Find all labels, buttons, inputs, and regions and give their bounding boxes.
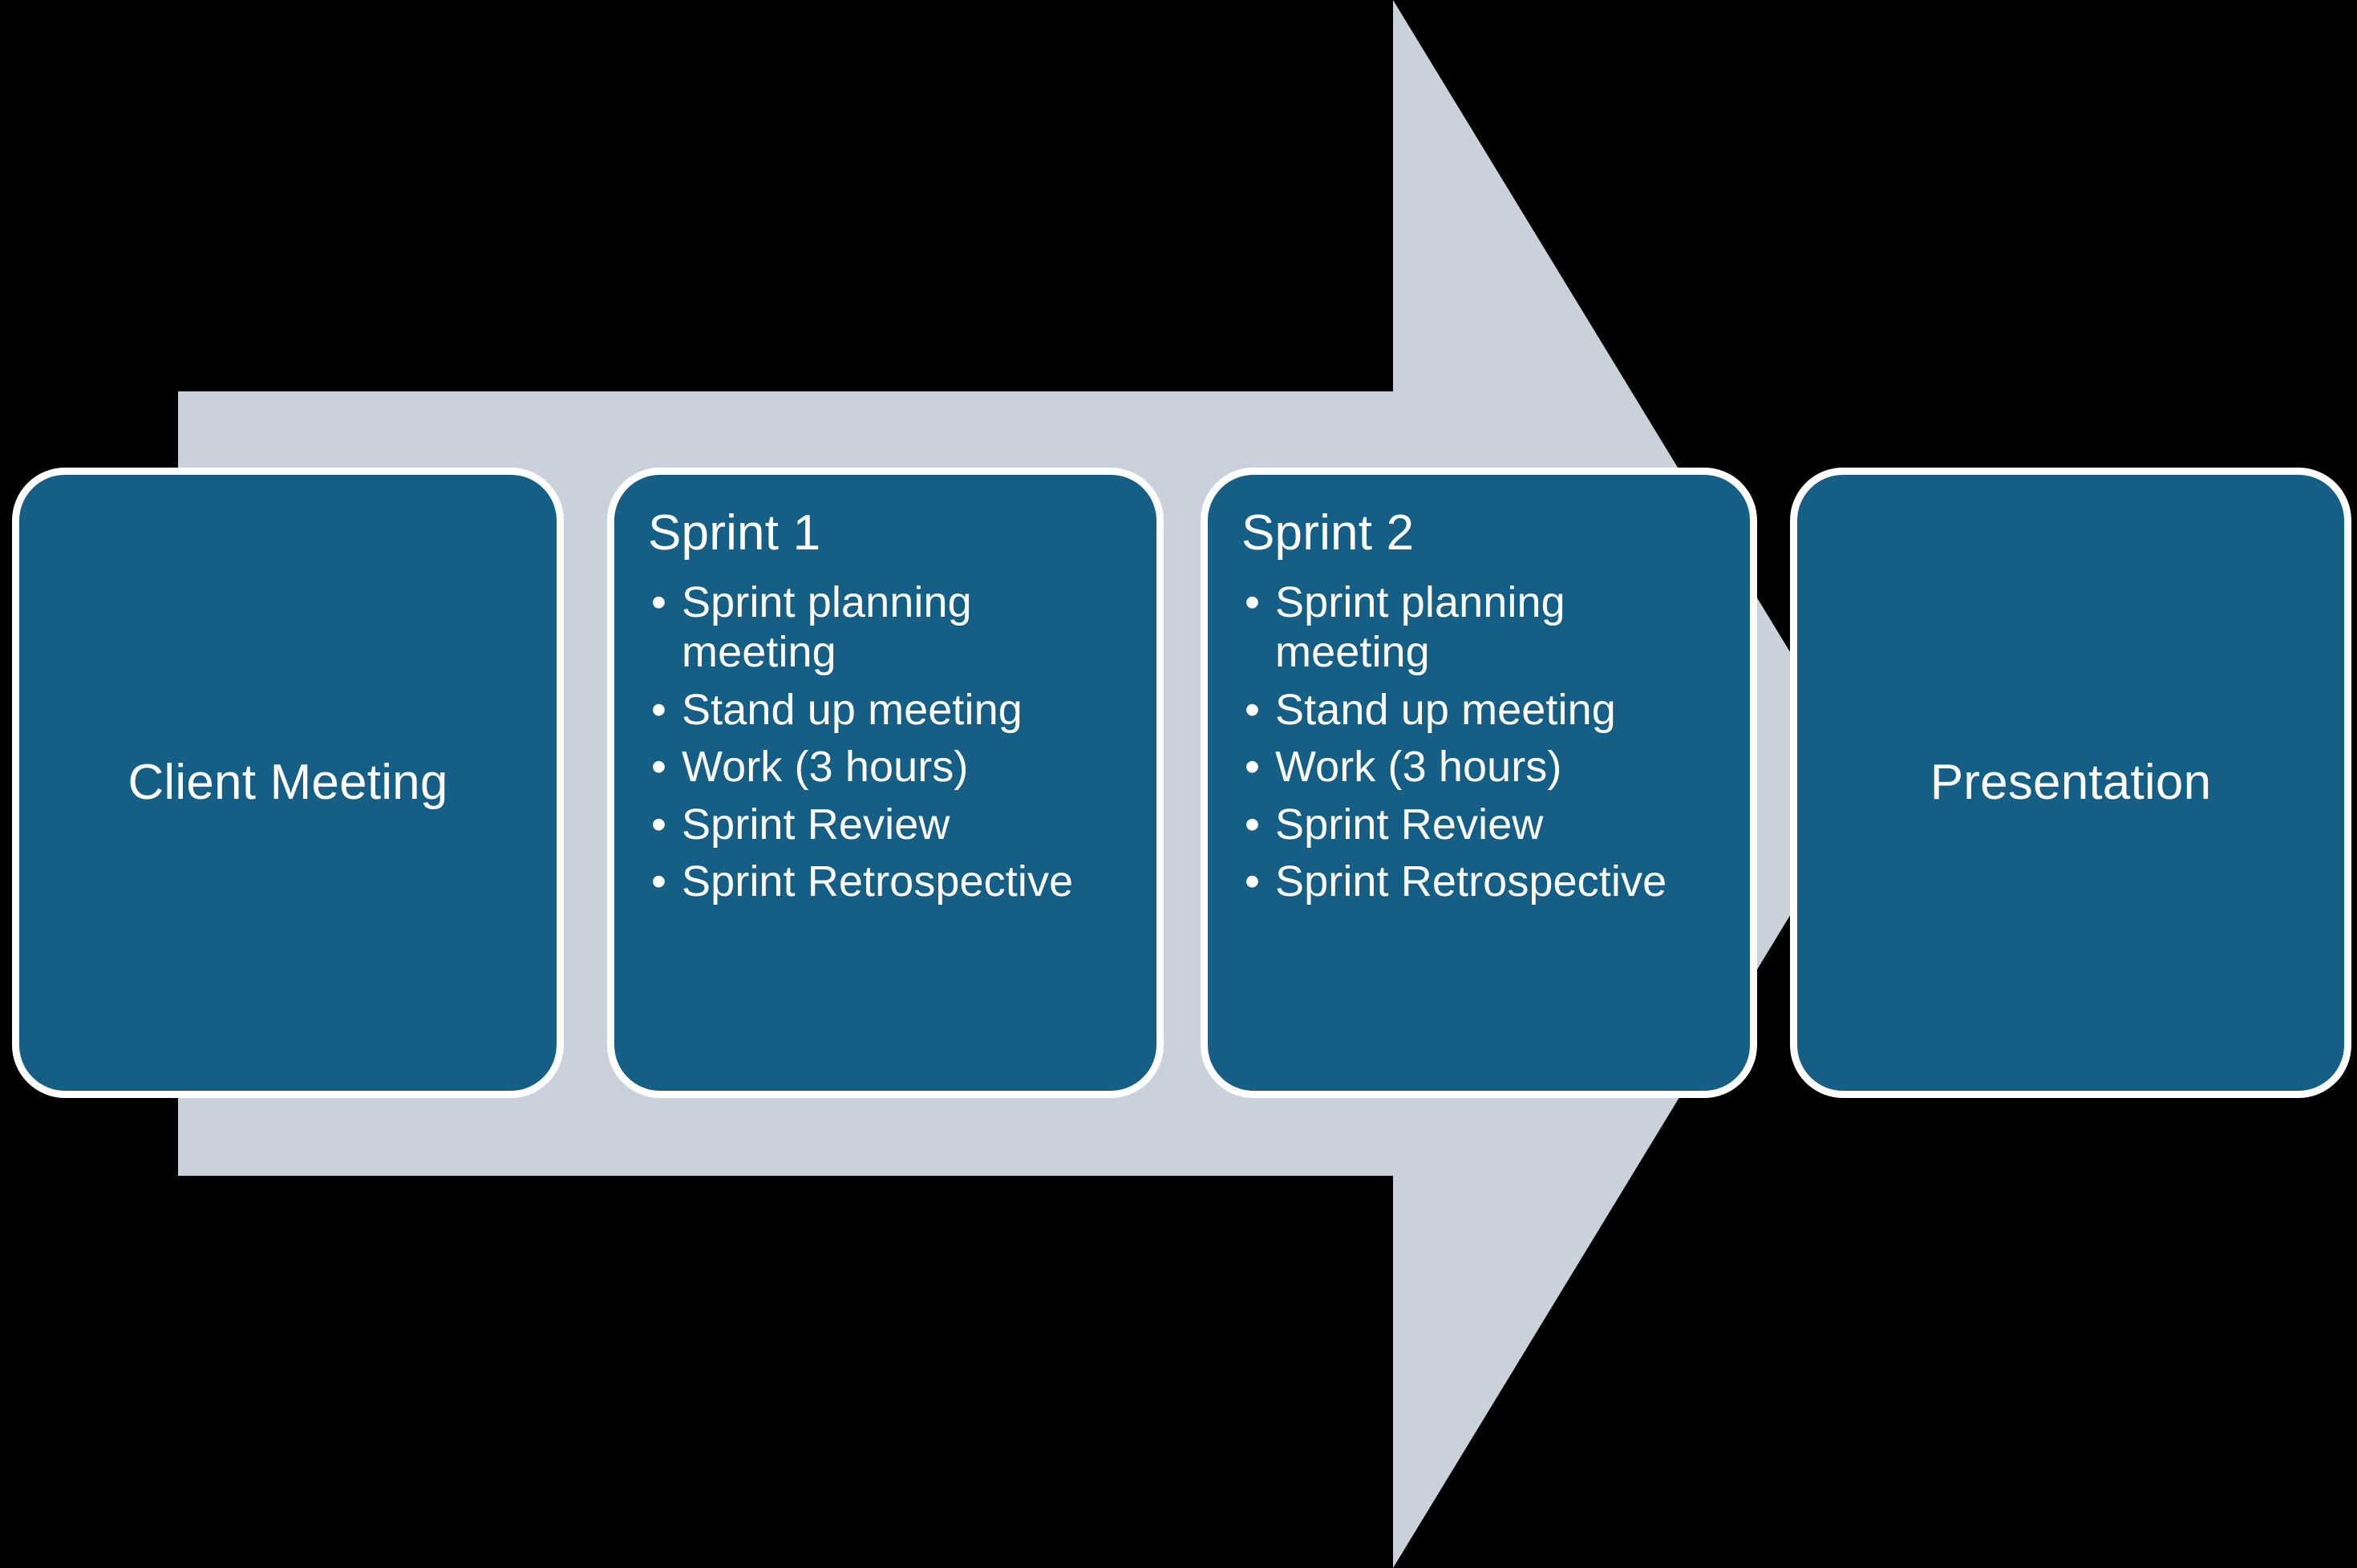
stage-box-client-meeting[interactable]: Client Meeting (12, 468, 564, 1098)
list-item: •Sprint Retrospective (648, 857, 1132, 907)
bullet-icon: • (1245, 743, 1260, 792)
list-item-label: Sprint planning meeting (682, 578, 972, 676)
list-item: •Sprint Review (648, 800, 1132, 850)
diagram-canvas: Client Meeting Sprint 1 •Sprint planning… (0, 0, 2357, 1568)
list-item: •Sprint Retrospective (1241, 857, 1726, 907)
stage-box-row: Client Meeting Sprint 1 •Sprint planning… (0, 468, 2357, 1098)
bullet-icon: • (651, 800, 666, 850)
list-item: •Stand up meeting (1241, 686, 1726, 735)
bullet-icon: • (1245, 800, 1260, 850)
stage-title-sprint-2: Sprint 2 (1241, 505, 1726, 561)
bullet-icon: • (651, 857, 666, 907)
stage-title-presentation: Presentation (1930, 754, 2212, 811)
list-item: •Stand up meeting (648, 686, 1132, 735)
list-item-label: Work (3 hours) (682, 743, 969, 791)
bullet-icon: • (1245, 857, 1260, 907)
list-item-label: Sprint Retrospective (682, 857, 1073, 906)
list-item-label: Sprint Retrospective (1275, 857, 1667, 906)
list-item-label: Work (3 hours) (1275, 743, 1562, 791)
stage-title-sprint-1: Sprint 1 (648, 505, 1132, 561)
stage-title-client-meeting: Client Meeting (128, 754, 448, 811)
list-item-label: Sprint planning meeting (1275, 578, 1565, 676)
bullet-icon: • (1245, 686, 1260, 735)
bullet-icon: • (651, 686, 666, 735)
list-item: •Sprint planning meeting (648, 578, 1132, 677)
list-item: •Sprint Review (1241, 800, 1726, 850)
bullet-icon: • (651, 743, 666, 792)
bullet-list-sprint-1: •Sprint planning meeting •Stand up meeti… (648, 578, 1132, 906)
stage-box-sprint-2[interactable]: Sprint 2 •Sprint planning meeting •Stand… (1201, 468, 1757, 1098)
list-item: •Work (3 hours) (648, 743, 1132, 792)
list-item-label: Sprint Review (682, 800, 950, 849)
stage-box-sprint-1[interactable]: Sprint 1 •Sprint planning meeting •Stand… (607, 468, 1164, 1098)
bullet-icon: • (651, 578, 666, 628)
bullet-icon: • (1245, 578, 1260, 628)
bullet-list-sprint-2: •Sprint planning meeting •Stand up meeti… (1241, 578, 1726, 906)
stage-box-presentation[interactable]: Presentation (1790, 468, 2351, 1098)
list-item-label: Stand up meeting (1275, 686, 1616, 734)
list-item: •Sprint planning meeting (1241, 578, 1726, 677)
list-item-label: Sprint Review (1275, 800, 1543, 849)
list-item: •Work (3 hours) (1241, 743, 1726, 792)
list-item-label: Stand up meeting (682, 686, 1023, 734)
